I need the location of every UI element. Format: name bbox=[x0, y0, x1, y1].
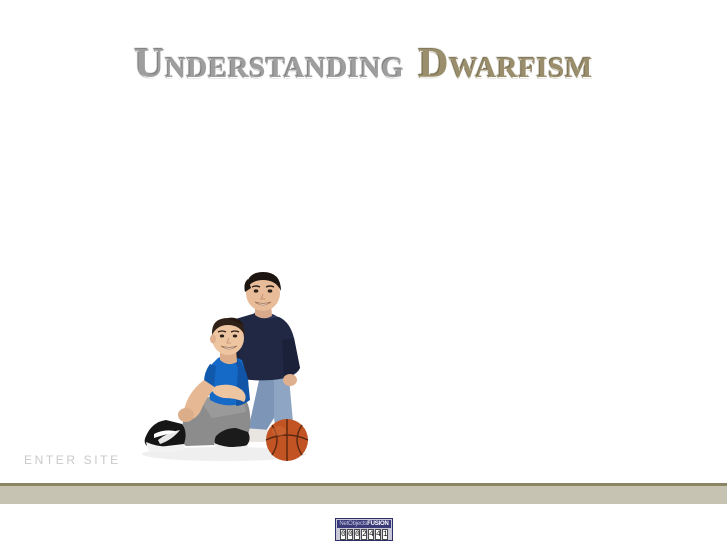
counter-brand-label: NetObjectsFUSION bbox=[337, 520, 391, 528]
enter-site-link[interactable]: ENTER SITE bbox=[24, 453, 121, 467]
hit-counter-badge: NetObjectsFUSION 0 0 0 2 4 4 1 bbox=[335, 518, 393, 541]
counter-digit: 4 bbox=[368, 529, 374, 540]
footer-band bbox=[0, 483, 727, 504]
counter-digit: 0 bbox=[340, 529, 346, 540]
page-title-word-dwarfism: Dwarfism bbox=[418, 41, 593, 87]
counter-digit: 4 bbox=[375, 529, 381, 540]
counter-digit: 2 bbox=[361, 529, 367, 540]
page-title-word-understanding: Understanding bbox=[134, 41, 404, 87]
counter-digit: 0 bbox=[347, 529, 353, 540]
two-young-men-with-basketball-illustration bbox=[124, 268, 318, 466]
hero-photo bbox=[124, 268, 318, 466]
counter-digit: 1 bbox=[382, 529, 388, 540]
counter-brand-fusion: FUSION bbox=[367, 521, 388, 527]
counter-digit-row: 0 0 0 2 4 4 1 bbox=[337, 529, 391, 540]
counter-brand-netobjects: NetObjects bbox=[339, 521, 367, 527]
counter-digit: 0 bbox=[354, 529, 360, 540]
page-title: UnderstandingDwarfism bbox=[0, 42, 727, 86]
